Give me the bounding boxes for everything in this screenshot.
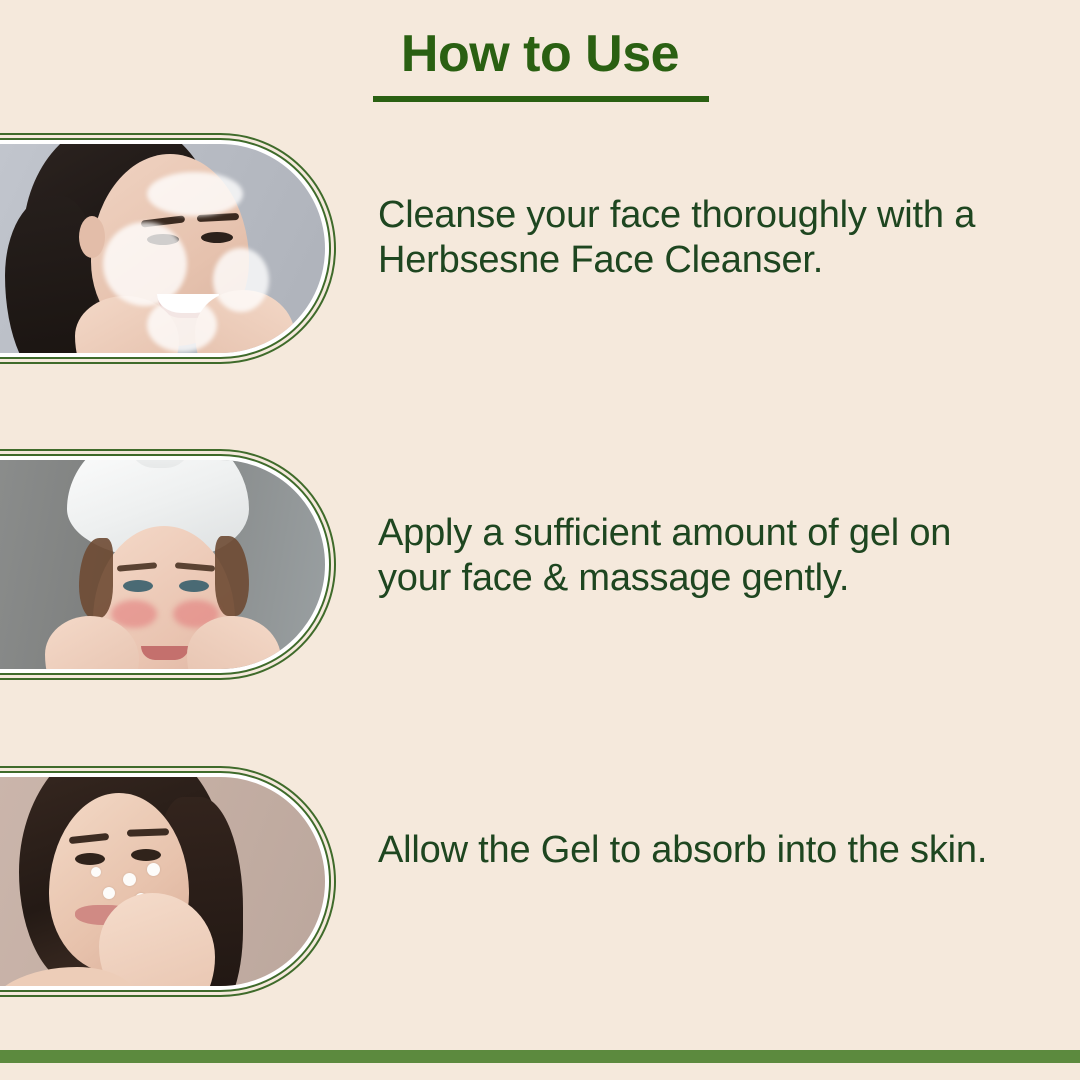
foam-patch-cheek [103,222,187,306]
eye-left [75,853,105,865]
step-image-card-inner-3 [0,771,331,992]
cream-dot-3 [103,887,115,899]
ear-shape [79,216,105,258]
step-photo-2 [0,460,325,669]
eye-left [123,580,153,592]
page-title-container: How to Use [0,26,1080,82]
step-image-card-1 [0,133,336,364]
hair-wisp-left [79,538,113,618]
step-image-card-inner-2 [0,454,331,675]
foam-patch-forehead [147,172,243,216]
step-image-card-3 [0,766,336,997]
step-image-card-2 [0,449,336,680]
eyebrow-right [127,828,169,836]
photo-background-3 [0,777,325,986]
photo-background-2 [0,460,325,669]
mouth-shape [141,646,189,660]
step-text-3: Allow the Gel to absorb into the skin. [378,828,1028,873]
photo-background-1 [0,144,325,353]
foam-patch-side [213,248,269,312]
cream-dot-5 [91,867,101,877]
footer-accent-bar [0,1050,1080,1063]
foam-patch-chin [147,298,217,352]
step-photo-3 [0,777,325,986]
cream-dot-1 [123,873,136,886]
page-title: How to Use [401,26,679,82]
step-photo-1 [0,144,325,353]
hair-wisp-right [215,536,249,616]
step-text-2: Apply a sufficient amount of gel on your… [378,511,1028,601]
eye-right [179,580,209,592]
eye-right [201,232,233,243]
step-text-1: Cleanse your face thoroughly with a Herb… [378,193,1028,283]
step-image-card-inner-1 [0,138,331,359]
title-underline [373,96,709,102]
eye-right [131,849,161,861]
cream-dot-2 [147,863,160,876]
